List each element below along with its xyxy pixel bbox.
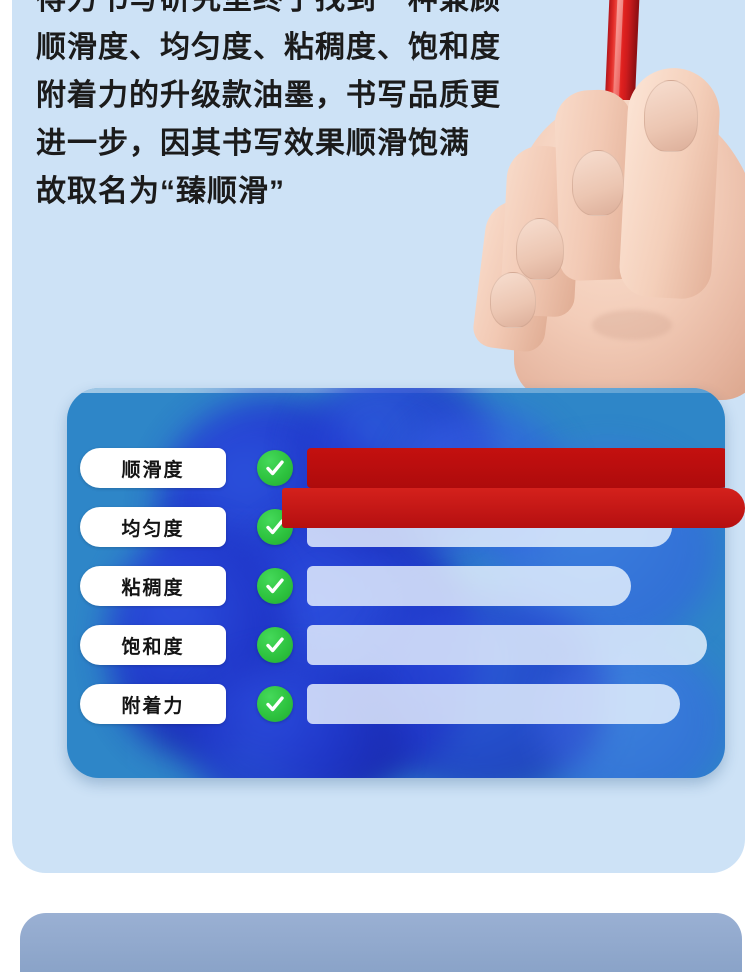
- feature-bar: [307, 566, 631, 606]
- feature-bar-highlight: [307, 448, 725, 488]
- check-icon: [257, 568, 293, 604]
- check-icon: [257, 686, 293, 722]
- hand-holding-pen-illustration: Lineflow deli: [502, 0, 745, 400]
- upper-background-panel: 经数万次研究调配，不断改善配方 得力书写研究室终于找到一种兼顾 顺滑度、均匀度、…: [12, 0, 745, 873]
- feature-label-pill: 顺滑度: [80, 448, 226, 488]
- feature-row: 附着力: [80, 684, 725, 724]
- feature-bar: [307, 625, 707, 665]
- feature-label-pill: 粘稠度: [80, 566, 226, 606]
- check-icon: [257, 450, 293, 486]
- feature-bar-highlight-overflow: [282, 488, 745, 528]
- feature-bar: [307, 684, 680, 724]
- feature-row: 粘稠度: [80, 566, 725, 606]
- headline-copy: 经数万次研究调配，不断改善配方 得力书写研究室终于找到一种兼顾 顺滑度、均匀度、…: [36, 0, 536, 216]
- feature-label-pill: 附着力: [80, 684, 226, 724]
- feature-label-pill: 均匀度: [80, 507, 226, 547]
- knuckle-shading: [592, 310, 672, 340]
- middle-finger-nail: [516, 218, 564, 280]
- ring-finger-nail: [490, 272, 536, 328]
- product-detail-page: 经数万次研究调配，不断改善配方 得力书写研究室终于找到一种兼顾 顺滑度、均匀度、…: [0, 0, 750, 972]
- feature-rows: 顺滑度 均匀度 粘稠度: [67, 388, 725, 778]
- index-finger-nail: [572, 150, 624, 216]
- thumb-nail: [644, 80, 698, 152]
- feature-row: 饱和度: [80, 625, 725, 665]
- feature-comparison-card: 顺滑度 均匀度 粘稠度: [67, 388, 725, 778]
- lower-background-panel: [20, 913, 742, 972]
- check-icon: [257, 627, 293, 663]
- feature-label-pill: 饱和度: [80, 625, 226, 665]
- feature-row: 顺滑度: [80, 448, 725, 488]
